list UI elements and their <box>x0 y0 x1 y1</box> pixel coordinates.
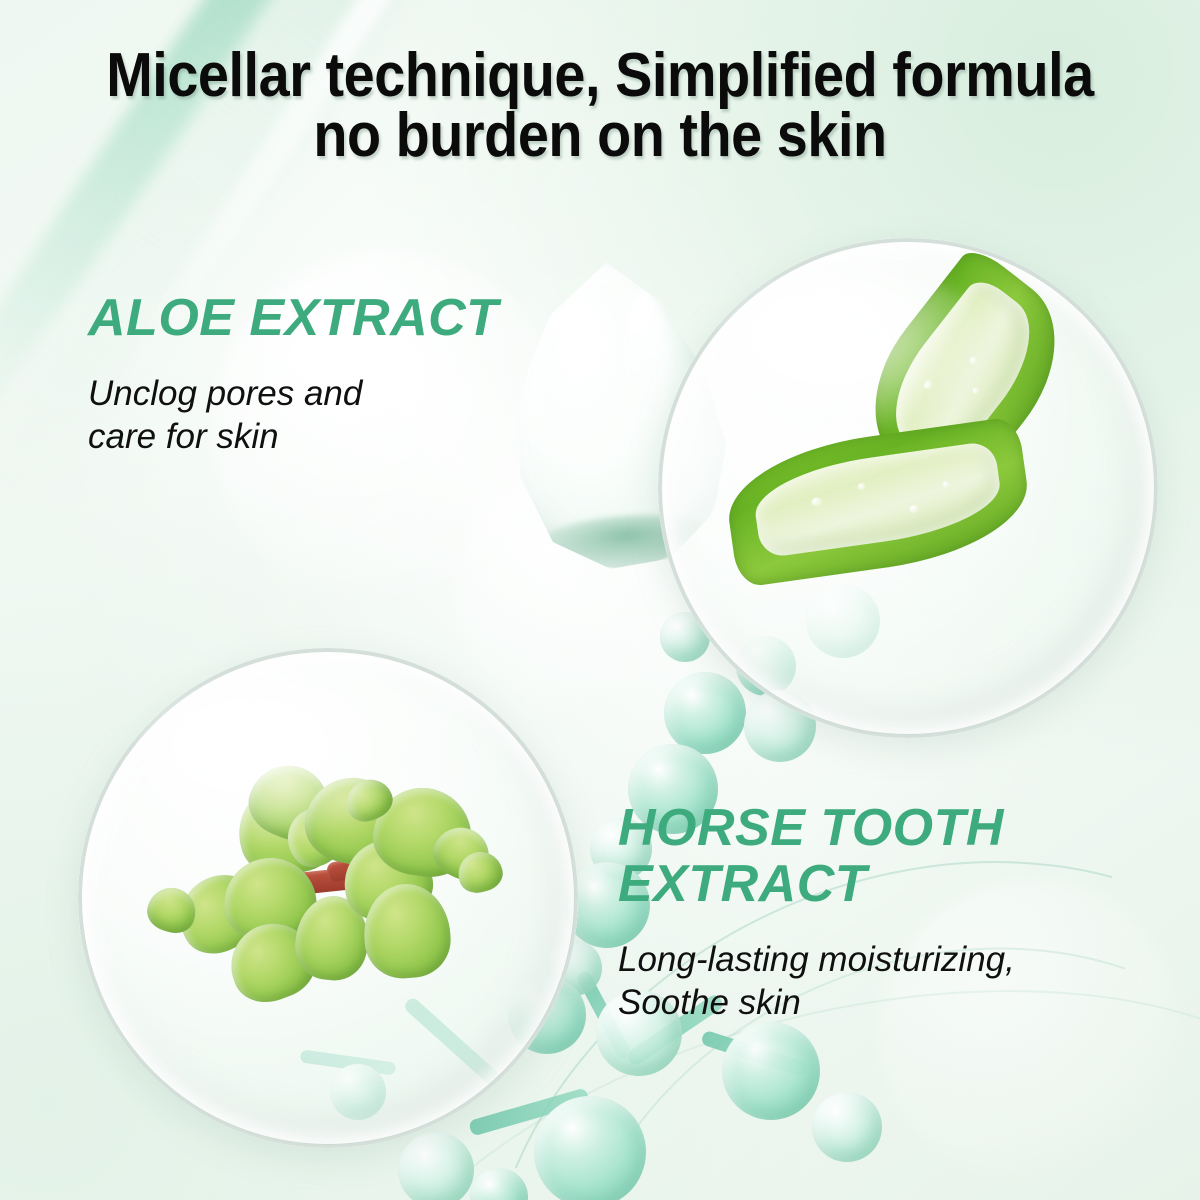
molecule-atom <box>722 1022 820 1120</box>
product-ingredient-poster: Micellar technique, Simplified formula n… <box>0 0 1200 1200</box>
aloe-sphere-contents <box>658 238 1158 738</box>
ingredient-title-aloe: ALOE EXTRACT <box>88 290 568 346</box>
headline-line-1: Micellar technique, Simplified formula <box>60 46 1140 106</box>
headline-line-2: no burden on the skin <box>60 106 1140 166</box>
ingredient-title-horse-tooth: HORSE TOOTH EXTRACT <box>618 800 1118 912</box>
molecule-atom <box>470 1168 528 1200</box>
ingredient-block-aloe: ALOE EXTRACT Unclog pores and care for s… <box>88 290 568 458</box>
molecule-atom <box>812 1092 882 1162</box>
page-title: Micellar technique, Simplified formula n… <box>60 46 1140 166</box>
water-bead <box>968 355 978 366</box>
horse-tooth-ingredient-sphere <box>78 648 578 1148</box>
ingredient-block-horse-tooth: HORSE TOOTH EXTRACT Long-lasting moistur… <box>618 800 1118 1024</box>
aloe-ingredient-sphere <box>658 238 1158 738</box>
ingredient-description-aloe: Unclog pores and care for skin <box>88 372 568 458</box>
aloe-leaf-slice-icon <box>720 416 1035 588</box>
purslane-sphere-contents <box>78 648 578 1148</box>
ingredient-description-horse-tooth: Long-lasting moisturizing, Soothe skin <box>618 938 1118 1024</box>
purslane-leaf <box>239 754 340 851</box>
water-bead <box>971 386 980 395</box>
water-bead <box>922 378 934 391</box>
